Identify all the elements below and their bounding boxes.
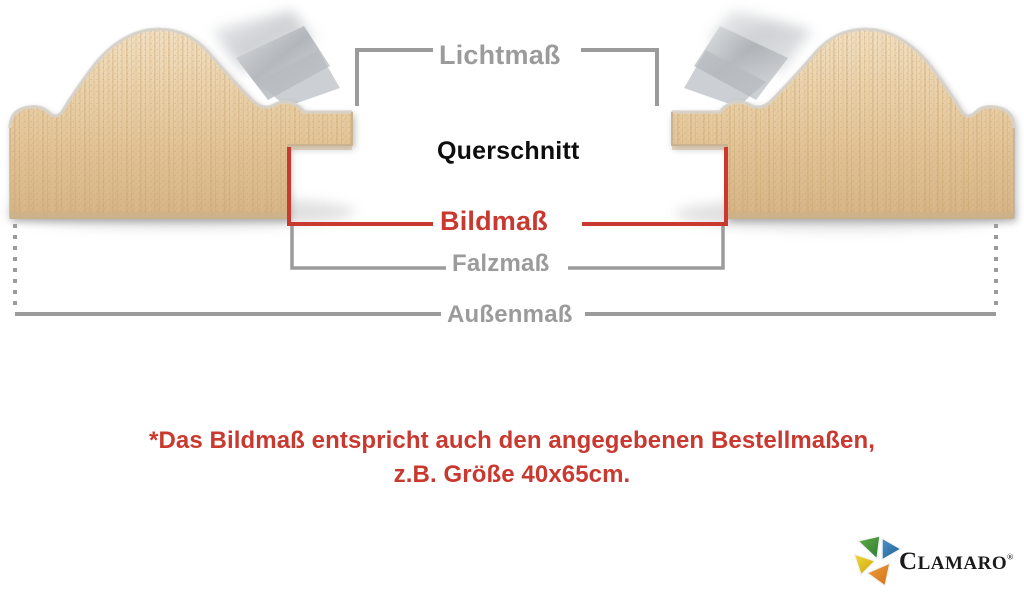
label-bildmass: Bildmaß xyxy=(440,208,548,235)
frame-cross-section-infographic: Lichtmaß Querschnitt Bildmaß Falzmaß Auß… xyxy=(0,0,1024,603)
label-lichtmass: Lichtmaß xyxy=(439,42,561,69)
footnote-text: *Das Bildmaß entspricht auch den angegeb… xyxy=(0,424,1024,492)
logo-triangle-green xyxy=(858,536,880,559)
clamaro-logo: CLAMARO® xyxy=(849,530,1014,596)
footnote-line-1: *Das Bildmaß entspricht auch den angegeb… xyxy=(0,424,1024,458)
label-querschnitt: Querschnitt xyxy=(437,139,580,164)
label-aussenmass: Außenmaß xyxy=(447,303,573,327)
registered-trademark-icon: ® xyxy=(1007,553,1013,562)
logo-wordmark-rest: LAMARO xyxy=(918,553,1008,574)
logo-wordmark: CLAMARO® xyxy=(899,548,1014,576)
footnote-line-2: z.B. Größe 40x65cm. xyxy=(0,458,1024,492)
label-falzmass: Falzmaß xyxy=(452,252,549,276)
logo-wordmark-initial: C xyxy=(899,548,918,575)
